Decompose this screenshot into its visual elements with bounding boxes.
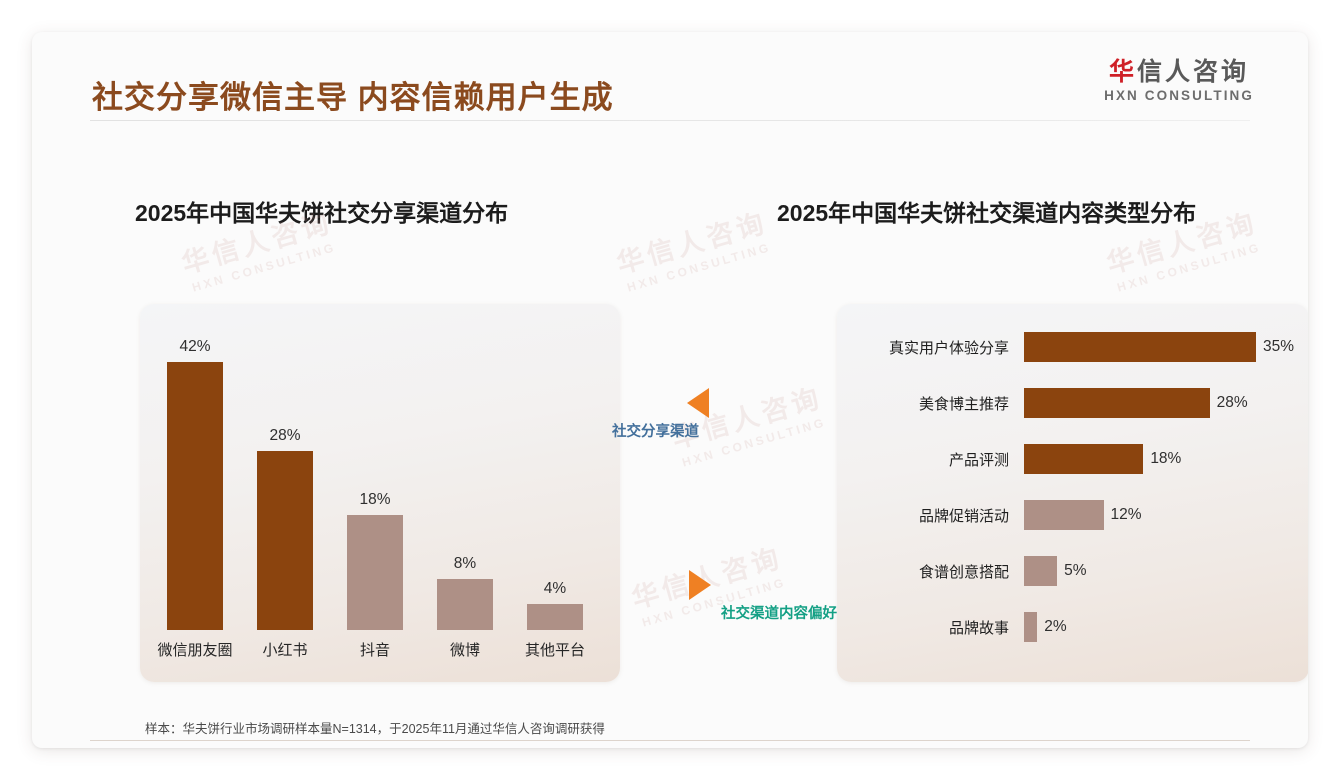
bar-category-label: 真实用户体验分享 — [859, 337, 1024, 358]
watermark: 华信人咨询HXN CONSULTING — [613, 207, 775, 297]
right-chart-panel: 真实用户体验分享35%美食博主推荐28%产品评测18%品牌促销活动12%食谱创意… — [837, 304, 1308, 682]
bar-rect — [167, 362, 223, 630]
company-logo: 华信人咨询 HXN CONSULTING — [1104, 58, 1254, 103]
bar-value-label: 18% — [359, 491, 390, 509]
bar-category-label: 微博 — [450, 639, 480, 660]
bar-value-label: 2% — [1044, 618, 1066, 636]
bar-value-label: 35% — [1263, 338, 1294, 356]
bar-category-label: 食谱创意搭配 — [859, 561, 1024, 582]
bar-category-label: 其他平台 — [525, 639, 585, 660]
bar-category-label: 抖音 — [360, 639, 390, 660]
horizontal-bar-row: 品牌促销活动12% — [859, 498, 1295, 532]
header-divider — [90, 120, 1250, 121]
footer-divider — [90, 740, 1250, 741]
bar-rect — [1024, 388, 1210, 418]
bar-category-label: 品牌故事 — [859, 617, 1024, 638]
triangle-right-icon — [689, 570, 711, 600]
horizontal-bar-row: 美食博主推荐28% — [859, 386, 1295, 420]
left-chart-title: 2025年中国华夫饼社交分享渠道分布 — [135, 194, 508, 228]
logo-english-text: HXN CONSULTING — [1104, 88, 1254, 103]
page-title: 社交分享微信主导 内容信赖用户生成 — [92, 72, 614, 117]
horizontal-bar-row: 真实用户体验分享35% — [859, 330, 1295, 364]
vertical-bar-group: 8%微博 — [432, 579, 498, 630]
vertical-bar-group: 28%小红书 — [252, 451, 318, 630]
vertical-bar-group: 4%其他平台 — [522, 604, 588, 630]
annotation-channel-label: 社交分享渠道 — [612, 420, 699, 441]
logo-chinese-rest: 信人咨询 — [1137, 58, 1249, 86]
logo-hua-character: 华 — [1109, 58, 1137, 86]
sample-note: 样本：华夫饼行业市场调研样本量N=1314，于2025年11月通过华信人咨询调研… — [145, 718, 605, 737]
bar-rect — [527, 604, 583, 630]
bar-category-label: 小红书 — [262, 639, 307, 660]
bar-rect — [1024, 332, 1256, 362]
annotation-preference-label: 社交渠道内容偏好 — [721, 602, 837, 623]
bar-rect — [1024, 612, 1037, 642]
horizontal-bar-chart: 真实用户体验分享35%美食博主推荐28%产品评测18%品牌促销活动12%食谱创意… — [837, 304, 1308, 682]
bar-category-label: 美食博主推荐 — [859, 393, 1024, 414]
horizontal-bar-row: 品牌故事2% — [859, 610, 1295, 644]
bar-value-label: 28% — [269, 427, 300, 445]
bar-rect — [257, 451, 313, 630]
bar-value-label: 5% — [1064, 562, 1086, 580]
bar-category-label: 微信朋友圈 — [157, 639, 232, 660]
bar-rect — [1024, 556, 1057, 586]
bar-rect — [1024, 444, 1143, 474]
logo-chinese-text: 华信人咨询 — [1104, 58, 1254, 86]
bar-value-label: 8% — [454, 555, 476, 573]
horizontal-bar-row: 食谱创意搭配5% — [859, 554, 1295, 588]
bar-value-label: 18% — [1150, 450, 1181, 468]
vertical-bar-chart: 42%微信朋友圈28%小红书18%抖音8%微博4%其他平台 — [140, 304, 620, 682]
right-chart-title: 2025年中国华夫饼社交渠道内容类型分布 — [777, 194, 1196, 228]
vertical-bar-group: 42%微信朋友圈 — [162, 362, 228, 630]
triangle-left-icon — [687, 388, 709, 418]
left-chart-panel: 42%微信朋友圈28%小红书18%抖音8%微博4%其他平台 — [140, 304, 620, 682]
horizontal-bar-row: 产品评测18% — [859, 442, 1295, 476]
bar-value-label: 4% — [544, 580, 566, 598]
bar-value-label: 12% — [1111, 506, 1142, 524]
vertical-bar-group: 18%抖音 — [342, 515, 408, 630]
slide-canvas: 社交分享微信主导 内容信赖用户生成 华信人咨询 HXN CONSULTING 2… — [32, 32, 1308, 748]
bar-rect — [1024, 500, 1104, 530]
bar-rect — [437, 579, 493, 630]
bar-value-label: 42% — [179, 338, 210, 356]
bar-rect — [347, 515, 403, 630]
slide-header: 社交分享微信主导 内容信赖用户生成 华信人咨询 HXN CONSULTING — [32, 32, 1308, 120]
bar-category-label: 产品评测 — [859, 449, 1024, 470]
bar-value-label: 28% — [1217, 394, 1248, 412]
bar-category-label: 品牌促销活动 — [859, 505, 1024, 526]
